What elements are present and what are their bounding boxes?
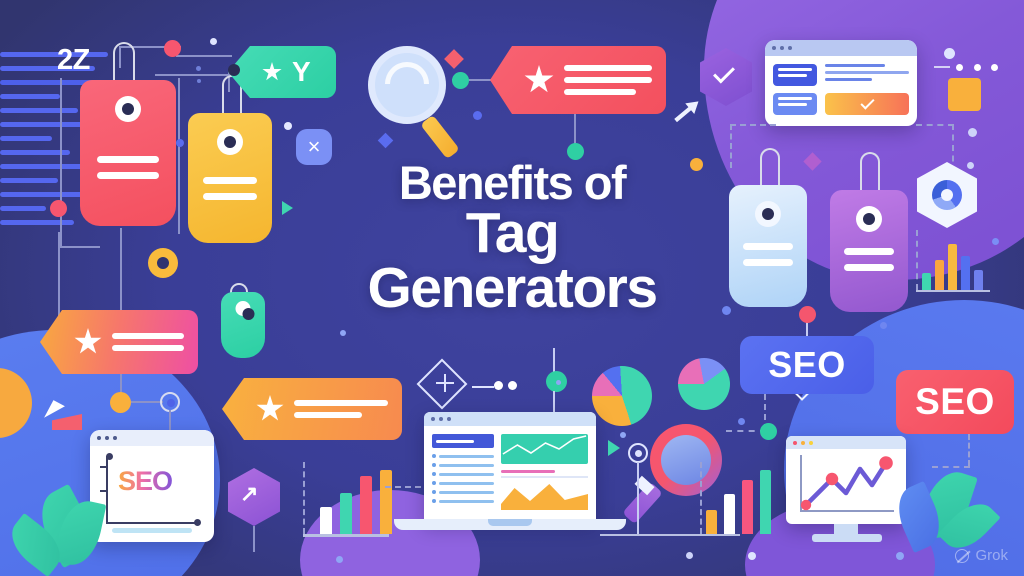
connector-line (934, 66, 950, 68)
bar (706, 510, 717, 534)
search-magnifier-icon[interactable] (368, 46, 446, 124)
decorative-diamond-blue (378, 133, 394, 149)
star-icon (256, 395, 284, 423)
arrow-up-right-icon (671, 96, 703, 126)
connector-node-pink (799, 306, 816, 323)
window-dot (105, 436, 109, 440)
decorative-dot (896, 552, 904, 560)
tag-hole (228, 64, 240, 76)
tag-teal-small (221, 292, 265, 358)
label-tag-lines (564, 59, 652, 101)
decorative-dot (968, 128, 977, 137)
bar-chart-bottom-center (320, 468, 392, 534)
window-dot (809, 441, 813, 445)
form-field-secondary[interactable] (773, 93, 817, 115)
window-dot (780, 46, 784, 50)
decorative-dot (880, 322, 887, 329)
arrow-zigzag-icon: ↗ (240, 483, 258, 505)
dashed-connector (968, 434, 970, 466)
window-dot (801, 441, 805, 445)
label-tag-letter: Y (292, 58, 311, 86)
label-tag-red-star (490, 46, 666, 114)
label-tag-gradient-star (40, 310, 198, 374)
decorative-dot (620, 432, 626, 438)
decorative-diamond-red (444, 49, 464, 69)
baseline (600, 534, 740, 536)
chart-x-axis (106, 522, 198, 524)
window-dot (113, 436, 117, 440)
monitor-stand (812, 534, 882, 542)
dashboard-list-rows (432, 454, 494, 503)
tag-hole (236, 301, 251, 316)
title-line-2: Tag (0, 206, 1024, 261)
form-text-lines (825, 64, 909, 86)
star-icon (74, 328, 102, 356)
window-form-card[interactable] (765, 40, 917, 126)
dashed-connector (932, 466, 970, 468)
window-dot (788, 46, 792, 50)
connector-node-pink (164, 40, 181, 57)
decorative-triangle-teal (608, 440, 620, 456)
connector-line (637, 462, 639, 534)
bar (360, 476, 372, 534)
magnifier-lens (661, 435, 711, 485)
line-chart-svg (798, 455, 896, 511)
decorative-dot (284, 122, 292, 130)
star-icon (262, 62, 282, 82)
star-icon (524, 65, 554, 95)
label-tag-teal-star-y: Y (228, 46, 336, 98)
decorative-dot (336, 556, 343, 563)
chevron-down-icon (860, 95, 874, 109)
decorative-dot (508, 381, 517, 390)
decorative-diamond-outline (417, 359, 468, 410)
decorative-dot (956, 64, 963, 71)
window-dot (97, 436, 101, 440)
connector-line (472, 386, 494, 388)
bar (742, 480, 753, 534)
decorative-square-orange (948, 78, 981, 111)
line-chart-svg (501, 434, 588, 464)
decorative-dot (974, 64, 981, 71)
bar (760, 470, 771, 534)
seo-badge-blue: SEO (740, 336, 874, 394)
connector-line (120, 286, 122, 312)
bar (340, 493, 352, 534)
tag-hole (217, 129, 243, 155)
dashed-connector (916, 124, 954, 126)
label-tag-lines (294, 394, 388, 424)
connector-node-ring (628, 443, 648, 463)
connector-line (253, 526, 255, 552)
grok-watermark-text: Grok (975, 547, 1008, 564)
laptop-dashboard[interactable] (424, 412, 596, 522)
title-line-3: Generators (0, 261, 1024, 316)
pie-chart-center (592, 366, 652, 426)
dashboard-line-chart (501, 434, 588, 464)
decorative-dot (722, 306, 731, 315)
dashed-connector (385, 486, 421, 488)
decorative-dot (340, 330, 346, 336)
chart-axis-dashed (303, 462, 305, 534)
connector-node-ring (160, 392, 180, 412)
decorative-dot (473, 111, 482, 120)
chart-baseline-bar (112, 528, 192, 533)
decorative-dot (196, 66, 201, 71)
decorative-dot (197, 79, 201, 83)
connector-node-orange (110, 392, 131, 413)
connector-node-teal (452, 72, 469, 89)
form-field-filled[interactable] (773, 64, 817, 86)
connector-line (176, 55, 232, 57)
chart-axis (303, 534, 389, 537)
label-tag-orange-star (222, 378, 402, 440)
decorative-dot (748, 552, 756, 560)
magnifier-handle (420, 115, 460, 160)
code-badge-text: 2Z (57, 44, 90, 77)
pie-chart-top-right (678, 358, 730, 410)
monitor-linechart[interactable] (786, 436, 906, 524)
window-titlebar (90, 430, 214, 446)
connector-node-inner (635, 450, 642, 457)
grok-logo-icon (955, 549, 969, 563)
form-submit-button[interactable] (825, 93, 909, 115)
illustration-canvas: 2Z Y × (0, 0, 1024, 576)
window-titlebar (786, 436, 906, 449)
connector-node-teal (760, 423, 777, 440)
label-tag-lines (112, 327, 184, 357)
seo-badge-red: SEO (896, 370, 1014, 434)
dashboard-area-chart (501, 482, 588, 510)
chart-axis-dashed (700, 462, 702, 534)
dashboard-list-header (432, 434, 494, 448)
decorative-dot (686, 552, 693, 559)
bar (380, 470, 392, 534)
window-dot (793, 441, 797, 445)
window-dot (772, 46, 776, 50)
window-dot (439, 417, 443, 421)
connector-line (553, 391, 555, 413)
plus-icon (444, 374, 446, 392)
decorative-dot (176, 139, 184, 147)
title-line-1: Benefits of (0, 160, 1024, 206)
dashed-connector (730, 124, 776, 126)
dashboard-divider (501, 470, 555, 473)
grok-watermark: Grok (955, 547, 1008, 564)
window-dot (431, 417, 435, 421)
page-title: Benefits of Tag Generators (0, 160, 1024, 316)
area-chart-svg (501, 482, 588, 510)
decorative-dot (944, 48, 955, 59)
window-titlebar (765, 40, 917, 56)
window-dot (447, 417, 451, 421)
window-seo-chart[interactable]: SEO (90, 430, 214, 542)
connector-node-inner (167, 399, 175, 407)
window-titlebar (424, 412, 596, 426)
bar (724, 494, 735, 534)
tag-hole (115, 96, 141, 122)
bar (320, 507, 332, 534)
decorative-dot (210, 38, 217, 45)
decorative-dot (556, 380, 561, 385)
decorative-dot (738, 418, 745, 425)
connector-line (131, 401, 163, 403)
decorative-dot (494, 381, 503, 390)
laptop-notch (488, 519, 532, 526)
bar-chart-bottom-right (706, 468, 771, 534)
connector-line (553, 348, 555, 372)
decorative-dot (991, 64, 998, 71)
dashboard-list (432, 434, 494, 510)
connector-line (574, 114, 576, 146)
seo-window-text: SEO (118, 468, 172, 495)
